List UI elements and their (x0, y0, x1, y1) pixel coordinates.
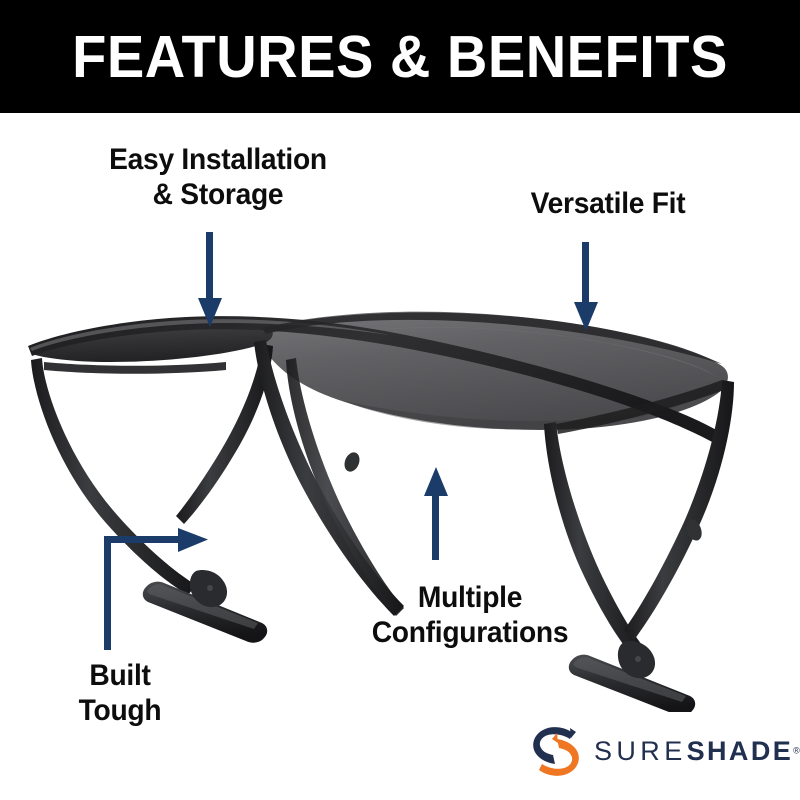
callout-line: Versatile Fit (486, 186, 730, 221)
sureshade-wordmark: SURESHADE® (594, 736, 800, 767)
callout-line: & Storage (68, 177, 369, 212)
infographic-page: FEATURES & BENEFITS (0, 0, 800, 800)
callout-line: Configurations (338, 615, 601, 650)
page-title: FEATURES & BENEFITS (20, 0, 780, 113)
callout-label-multiple-configurations: Multiple Configurations (338, 580, 601, 651)
callout-label-versatile-fit: Versatile Fit (486, 186, 730, 221)
mounting-foot-right (569, 641, 695, 712)
sureshade-logo: SURESHADE® (526, 722, 782, 784)
logo-word-shade: SHADE (687, 736, 794, 766)
callout-label-built-tough: Built Tough (26, 658, 214, 729)
down-arrow-icon-versatile-fit (572, 242, 600, 332)
elbow-right-arrow-icon-built-tough (98, 528, 210, 652)
logo-word-sure: SURE (594, 736, 687, 766)
callout-label-easy-installation: Easy Installation & Storage (68, 142, 369, 213)
header-bar: FEATURES & BENEFITS (0, 0, 800, 113)
callout-line: Built (26, 658, 214, 693)
up-arrow-icon-multiple-configurations (422, 466, 450, 560)
down-arrow-icon-easy-installation (196, 232, 224, 328)
registered-trademark-icon: ® (793, 746, 800, 756)
callout-line: Easy Installation (68, 142, 369, 177)
callout-line: Tough (26, 693, 214, 728)
callout-line: Multiple (338, 580, 601, 615)
sureshade-s-swoosh-icon (526, 724, 586, 780)
